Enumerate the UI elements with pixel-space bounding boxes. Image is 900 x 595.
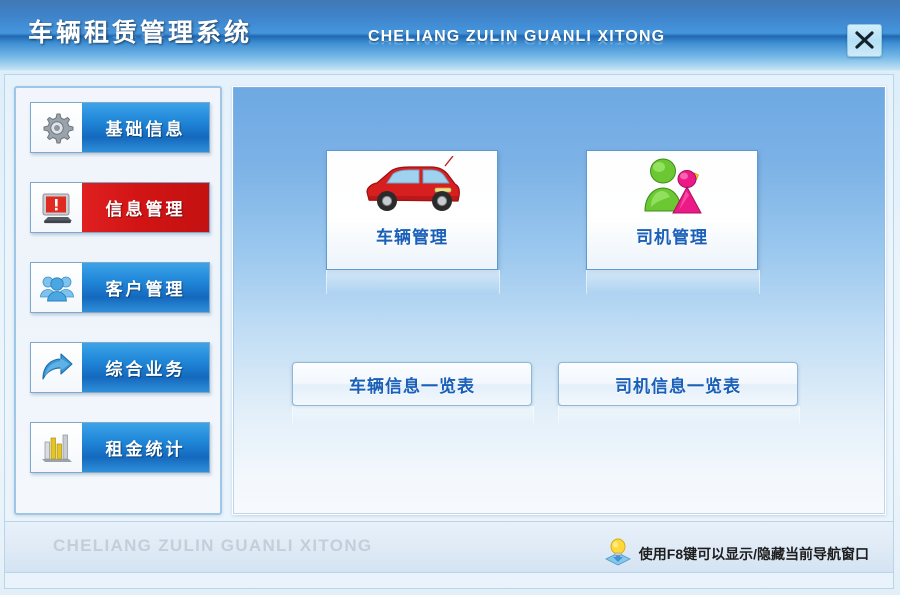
window-subtitle: CHELIANG ZULIN GUANLI XITONG: [368, 28, 665, 46]
lightbulb-icon: [603, 537, 633, 570]
gear-icon: [31, 103, 82, 152]
sidebar-item-label: 基础信息: [82, 103, 209, 152]
button-reflection: [558, 406, 800, 424]
sidebar-item-zonghe-yewu[interactable]: 综合业务: [30, 342, 210, 393]
status-bar: CHELIANG ZULIN GUANLI XITONG 使用F8键可以显示/隐…: [4, 521, 894, 573]
title-bar: 车辆租赁管理系统 车辆租赁管理系统 CHELIANG ZULIN GUANLI …: [0, 0, 900, 72]
status-hint-text: 使用F8键可以显示/隐藏当前导航窗口: [639, 544, 869, 564]
status-bar-brand: CHELIANG ZULIN GUANLI XITONG: [53, 536, 372, 556]
button-cheliang-xinxi-list[interactable]: 车辆信息一览表: [292, 362, 532, 406]
sidebar-item-label: 信息管理: [82, 183, 209, 232]
sidebar-item-kehu-guanli[interactable]: 客户管理: [30, 262, 210, 313]
main-content-panel: 车辆管理: [232, 86, 886, 515]
sidebar-item-xinxi-guanli[interactable]: 信息管理: [30, 182, 210, 233]
sidebar-item-label: 综合业务: [82, 343, 209, 392]
sidebar-item-label: 租金统计: [82, 423, 209, 472]
navigation-sidebar: 基础信息 信息管理: [14, 86, 222, 515]
app-window: 车辆租赁管理系统 车辆租赁管理系统 CHELIANG ZULIN GUANLI …: [0, 0, 900, 595]
people-green-pink-icon: [587, 151, 757, 223]
button-reflection: [292, 406, 534, 424]
sidebar-item-zujin-tongji[interactable]: 租金统计: [30, 422, 210, 473]
sidebar-item-jichu-xinxi[interactable]: 基础信息: [30, 102, 210, 153]
button-siji-xinxi-list[interactable]: 司机信息一览表: [558, 362, 798, 406]
tile-reflection: [326, 270, 500, 294]
window-title: 车辆租赁管理系统: [28, 13, 252, 49]
close-icon: [848, 29, 881, 51]
status-bar-hint: 使用F8键可以显示/隐藏当前导航窗口: [603, 537, 869, 570]
sidebar-item-label: 客户管理: [82, 263, 209, 312]
tile-label: 司机管理: [636, 223, 708, 248]
tile-cheliang-guanli[interactable]: 车辆管理: [326, 150, 498, 270]
arrow-right-icon: [31, 343, 82, 392]
bar-chart-icon: [31, 423, 82, 472]
tile-siji-guanli[interactable]: 司机管理: [586, 150, 758, 270]
users-icon: [31, 263, 82, 312]
tile-label: 车辆管理: [376, 223, 448, 248]
monitor-alert-icon: [31, 183, 82, 232]
close-button[interactable]: [847, 24, 882, 57]
red-car-icon: [327, 151, 497, 223]
tile-reflection: [586, 270, 760, 294]
